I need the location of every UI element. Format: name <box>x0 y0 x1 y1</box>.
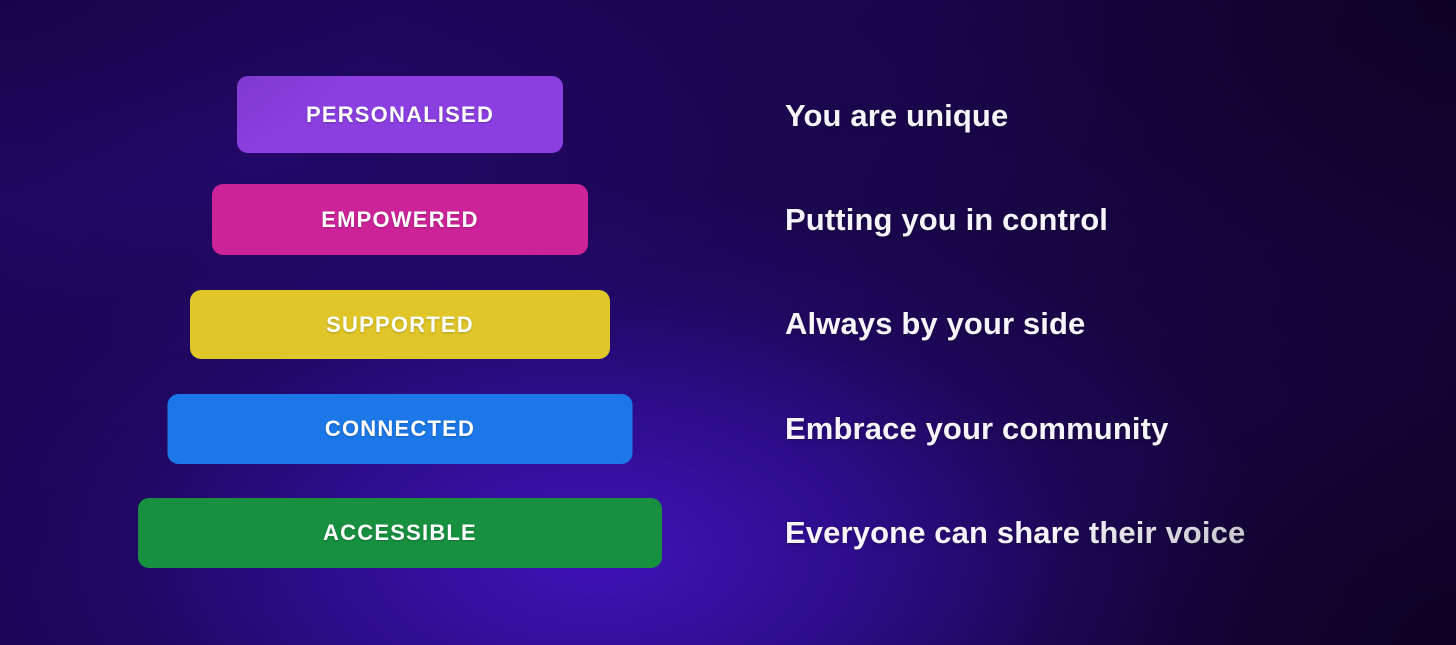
tier-label: SUPPORTED <box>326 314 474 336</box>
values-pyramid: PERSONALISED EMPOWERED SUPPORTED CONNECT… <box>0 0 800 645</box>
tagline-empowered: Putting you in control <box>785 204 1108 235</box>
tagline-personalised: You are unique <box>785 100 1008 131</box>
tier-label: CONNECTED <box>325 418 475 440</box>
tagline-supported: Always by your side <box>785 308 1085 339</box>
tier-label: PERSONALISED <box>306 104 494 126</box>
pyramid-tier-supported[interactable]: SUPPORTED <box>190 290 610 359</box>
pyramid-tier-personalised[interactable]: PERSONALISED <box>237 76 563 153</box>
tier-label: EMPOWERED <box>321 209 479 231</box>
pyramid-tier-accessible[interactable]: ACCESSIBLE <box>138 498 662 568</box>
pyramid-tier-connected[interactable]: CONNECTED <box>168 394 633 464</box>
tagline-column: You are unique Putting you in control Al… <box>785 0 1445 645</box>
tagline-connected: Embrace your community <box>785 413 1168 444</box>
tier-label: ACCESSIBLE <box>323 522 477 544</box>
slide-canvas: PERSONALISED EMPOWERED SUPPORTED CONNECT… <box>0 0 1456 645</box>
tagline-accessible: Everyone can share their voice <box>785 517 1245 548</box>
pyramid-tier-empowered[interactable]: EMPOWERED <box>212 184 588 255</box>
